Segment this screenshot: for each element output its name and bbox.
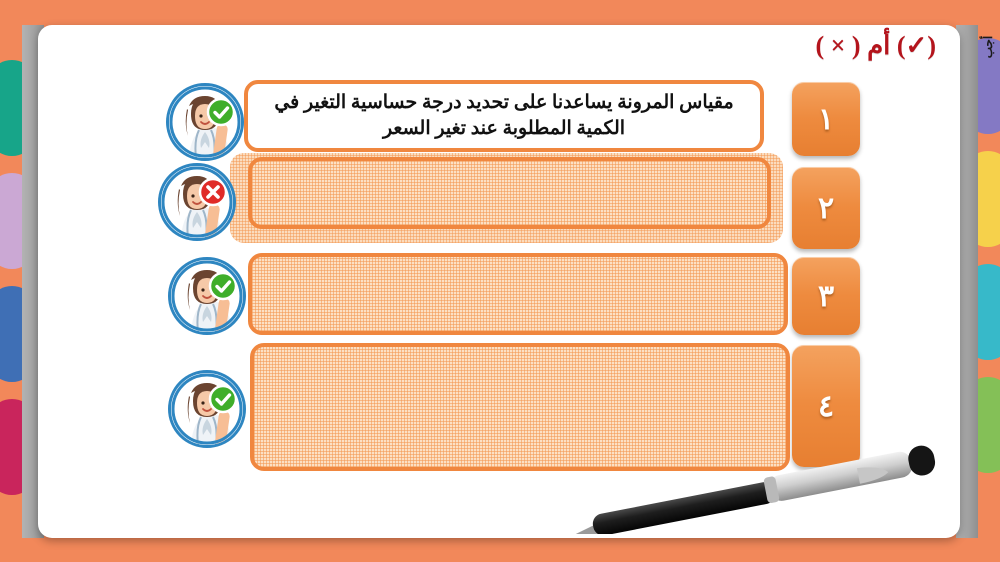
answer-box-4[interactable] <box>250 343 790 471</box>
avatar-cross-2 <box>158 163 236 241</box>
question-number-1[interactable]: ١ <box>792 82 860 156</box>
answer-box-2[interactable] <box>248 157 771 229</box>
worksheet-page: (✓) أم ( × ) ١ مقياس المرونة يساعدنا على… <box>38 25 960 538</box>
question-number-3[interactable]: ٣ <box>792 257 860 335</box>
question-number-4[interactable]: ٤ <box>792 345 860 467</box>
avatar-check-1 <box>166 83 244 161</box>
doctor-cross-icon <box>161 166 233 238</box>
slide-canvas: أجب (✓) أم ( × ) ١ مقياس المرونة يساعدنا… <box>0 0 1000 562</box>
doctor-check-icon <box>171 373 243 445</box>
question-number-2[interactable]: ٢ <box>792 167 860 249</box>
avatar-check-3 <box>168 257 246 335</box>
doctor-check-icon <box>171 260 243 332</box>
answer-box-3[interactable] <box>248 253 788 335</box>
question-text-1: مقياس المرونة يساعدنا على تحديد درجة حسا… <box>248 86 760 146</box>
doctor-check-icon <box>169 86 241 158</box>
page-title: (✓) أم ( × ) <box>815 31 936 61</box>
side-tab-label: أجب <box>981 21 995 73</box>
answer-box-1[interactable]: مقياس المرونة يساعدنا على تحديد درجة حسا… <box>244 80 764 152</box>
avatar-check-4 <box>168 370 246 448</box>
